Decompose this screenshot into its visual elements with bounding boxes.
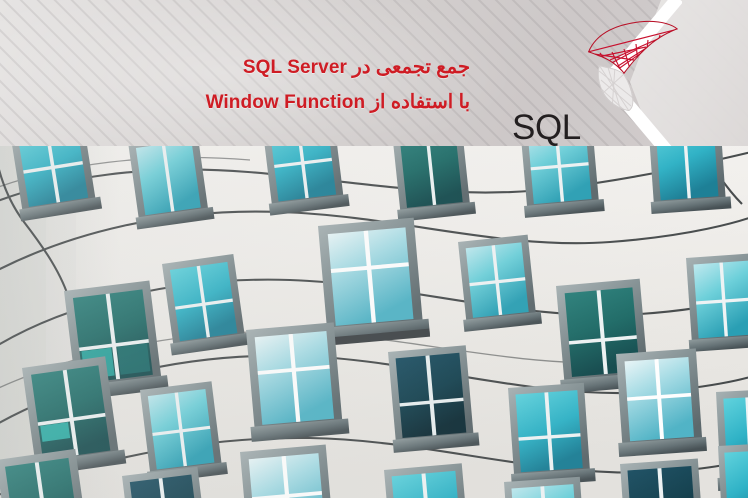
page-title: جمع تجمعی در SQL Server با استفاده از Wi… [50, 58, 470, 112]
title-line-2: با استفاده از Window Function [50, 93, 470, 113]
title-line-1-ltr: SQL Server [243, 57, 347, 78]
title-line-1-rtl: جمع تجمعی در [352, 56, 470, 78]
banner-page: جمع تجمعی در SQL Server با استفاده از Wi… [0, 0, 748, 498]
title-line-2-ltr: Window Function [206, 92, 366, 113]
title-line-2-rtl: با استفاده از [371, 91, 470, 113]
facade-photo [0, 146, 748, 498]
sql-server-logo: SQL Server [512, 16, 684, 142]
sql-server-swoosh-mesh-icon [574, 16, 682, 112]
title-line-1: جمع تجمعی در SQL Server [50, 58, 470, 78]
facade-illustration [0, 146, 748, 498]
